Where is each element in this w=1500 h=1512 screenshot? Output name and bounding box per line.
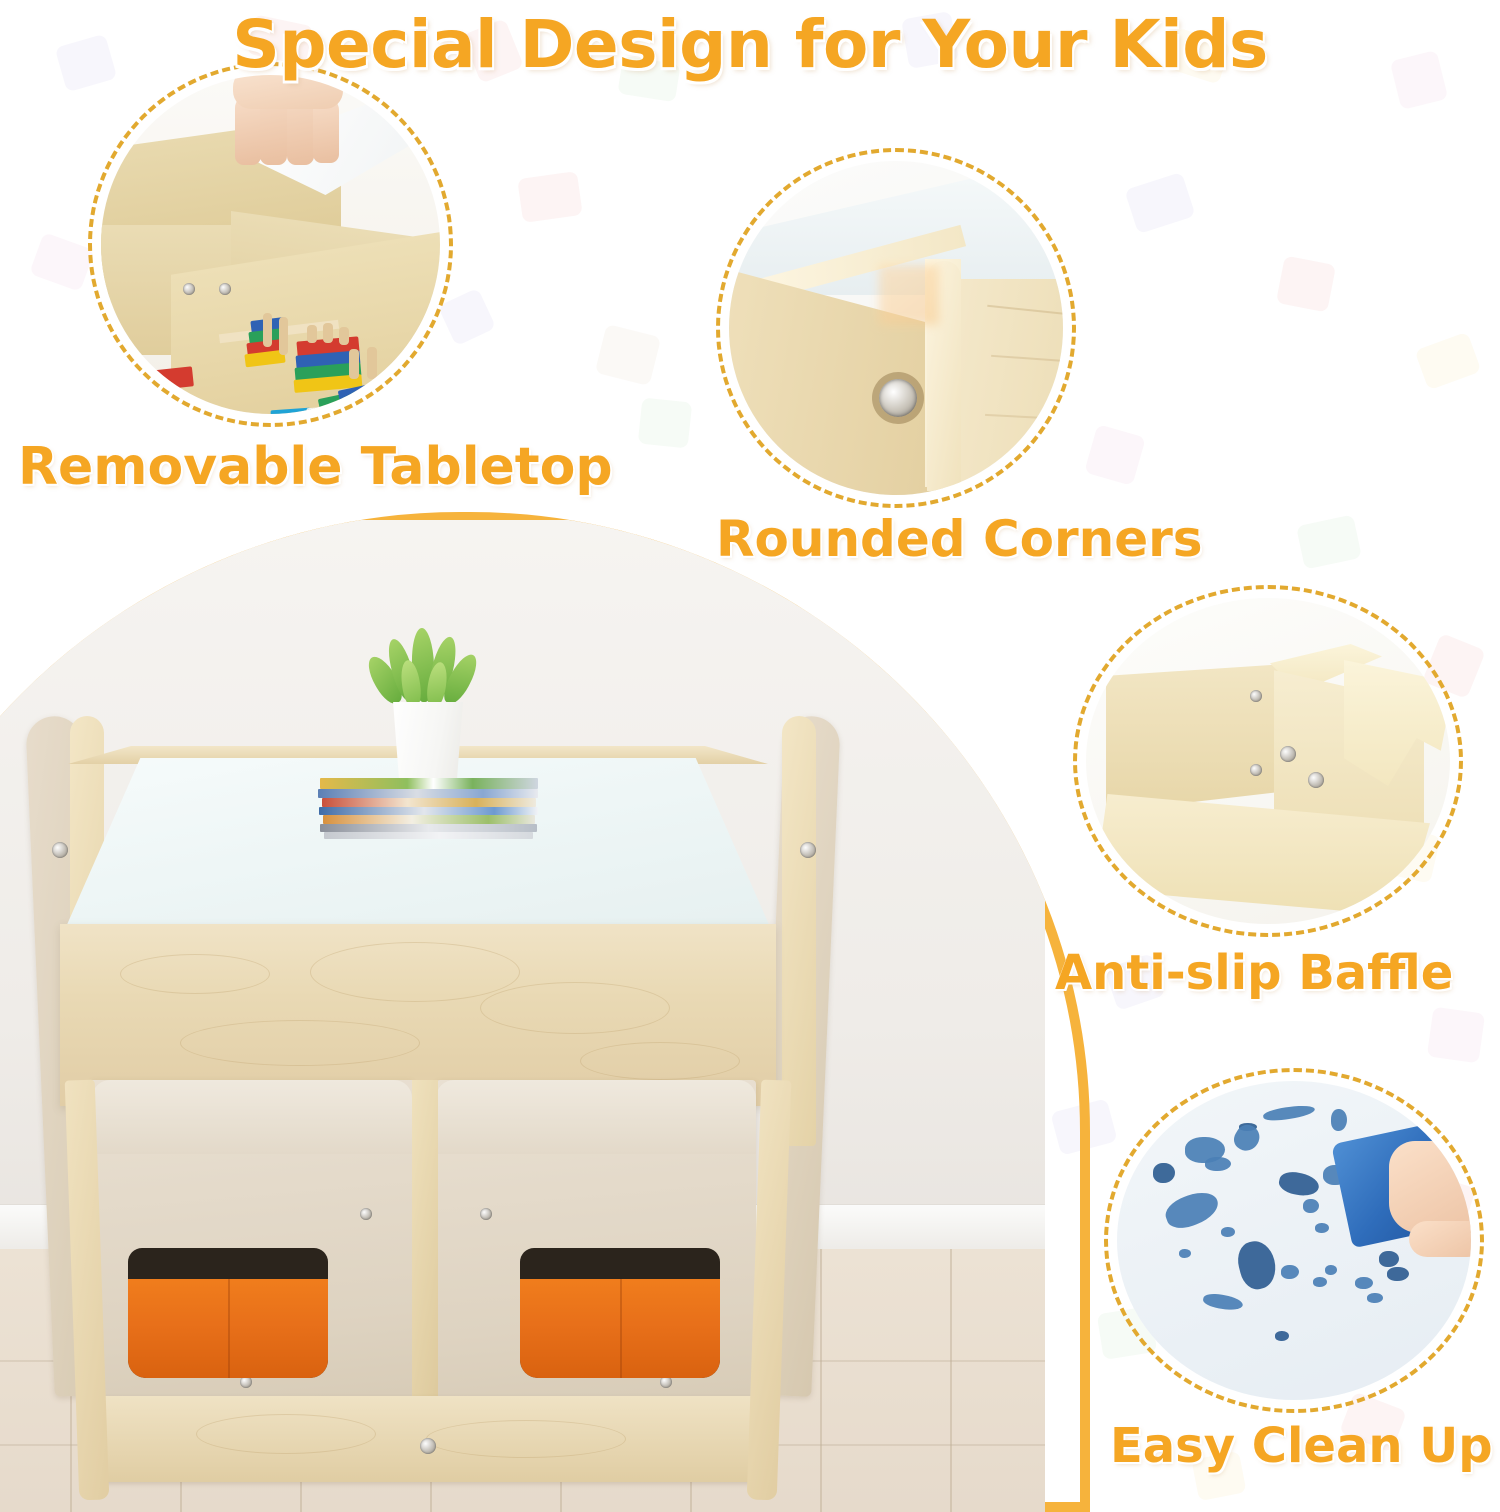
table-storage-body <box>60 924 776 1106</box>
baffle-screw-2 <box>1250 764 1262 776</box>
feature-inset-anti-slip-baffle <box>1073 585 1463 937</box>
baffle-back-panel <box>1106 664 1286 812</box>
storage-bin-left <box>128 1279 328 1378</box>
storage-bin-right <box>520 1279 720 1378</box>
feature-label-anti-slip-baffle: Anti-slip Baffle <box>1055 945 1453 1001</box>
seat-right-bin-opening <box>520 1248 720 1378</box>
base-rail-screw <box>420 1438 436 1454</box>
seat-left-bin-opening <box>128 1248 328 1378</box>
feature-label-removable-tabletop: Removable Tabletop <box>18 437 613 497</box>
feature-inset-easy-clean-up <box>1104 1068 1484 1413</box>
hero-product-photo <box>0 512 1090 1512</box>
feature-inset-rounded-corners <box>716 148 1076 508</box>
seat-right <box>436 1080 756 1420</box>
baffle-screw-3 <box>1280 746 1296 762</box>
wooden-toy-blocks <box>121 321 440 414</box>
baffle-screw-4 <box>1308 772 1324 788</box>
hand-icon <box>1389 1141 1471 1233</box>
succulent-plant-leaves <box>370 626 490 712</box>
center-strut <box>412 1080 438 1410</box>
book-stack <box>318 778 540 840</box>
page-title: Special Design for Your Kids <box>0 6 1500 83</box>
finger-icon <box>1409 1221 1471 1257</box>
chair-screw-left <box>52 842 68 858</box>
hand-icon <box>233 75 353 179</box>
seat-left <box>92 1080 412 1420</box>
feature-inset-removable-tabletop <box>88 62 453 427</box>
seat-right-screw-top <box>480 1208 492 1220</box>
feature-label-rounded-corners: Rounded Corners <box>716 510 1203 568</box>
seat-left-screw-top <box>360 1208 372 1220</box>
corner-screw-icon <box>879 379 917 417</box>
feature-label-easy-clean-up: Easy Clean Up <box>1110 1418 1493 1474</box>
chair-screw-right <box>800 842 816 858</box>
baffle-screw-1 <box>1250 690 1262 702</box>
